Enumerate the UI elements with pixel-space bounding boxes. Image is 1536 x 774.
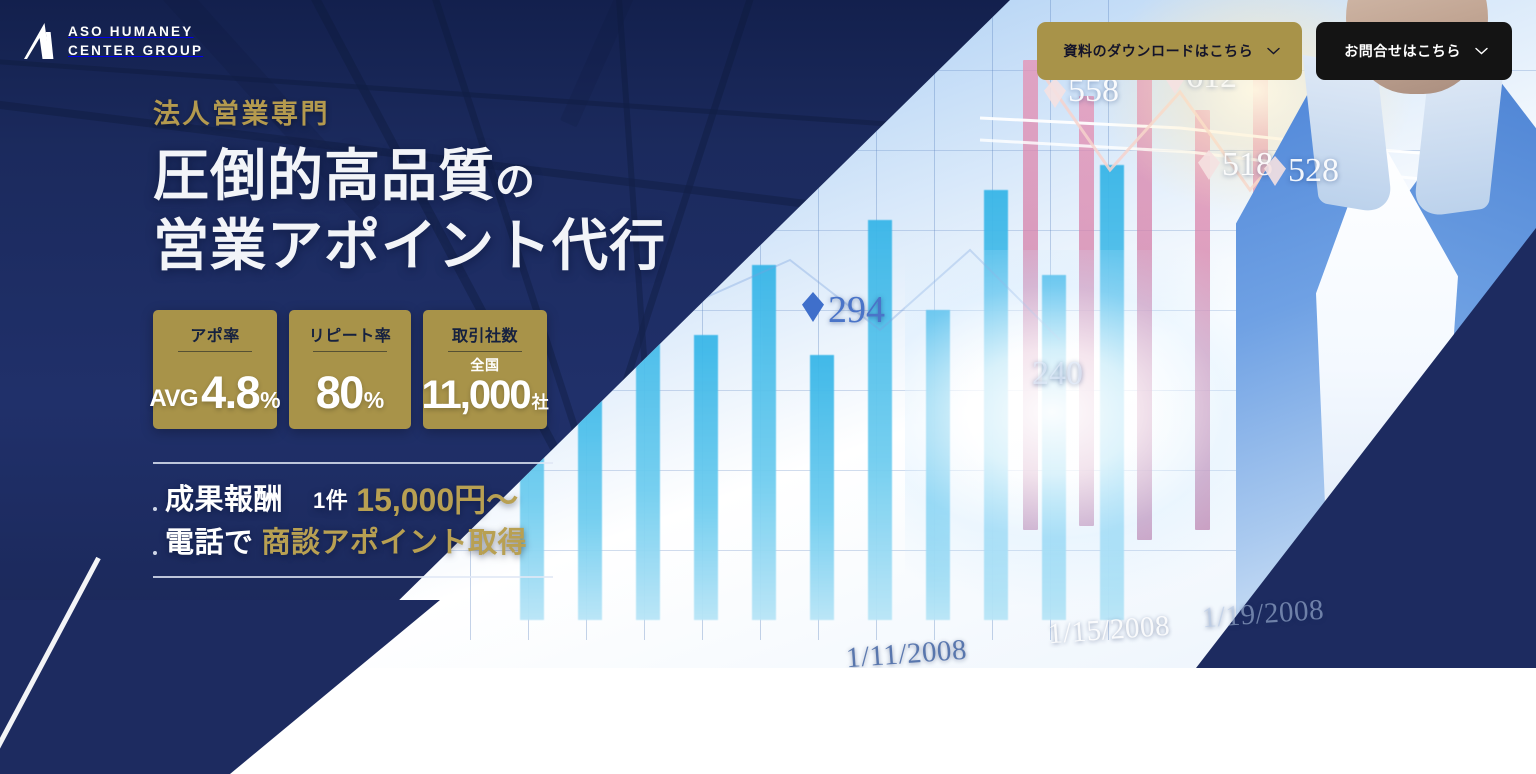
bullet-dot-icon: [153, 551, 157, 555]
stat-unit: %: [260, 389, 280, 412]
stat-label: 取引社数: [452, 322, 518, 346]
bullet-white-b: 1件: [313, 485, 348, 516]
stat-value: AVG 4.8 %: [149, 370, 280, 415]
brand-line-2: CENTER GROUP: [68, 42, 203, 59]
hero-eyebrow: 法人営業専門: [153, 100, 666, 130]
brand-logo-text: ASO HUMANEY CENTER GROUP: [68, 23, 203, 60]
stat-card-repeat-rate: リピート率 80 %: [289, 310, 411, 429]
stat-divider: [313, 351, 387, 352]
stat-divider: [178, 351, 252, 352]
stat-value: 11,000 社: [421, 375, 548, 415]
stat-label: リピート率: [309, 322, 392, 346]
stat-value: 80 %: [316, 370, 385, 415]
bullet-white-a: 成果報酬: [165, 480, 283, 521]
stat-number: 11,000: [421, 375, 529, 415]
hero-title-line1-main: 圧倒的高品質: [153, 144, 495, 207]
chevron-down-icon: [1267, 47, 1280, 55]
bullet-gold: 商談アポイント取得: [262, 523, 528, 564]
hero-section: 558 612 518 528 294 240 1/11/2008: [0, 0, 1536, 668]
bullet-item: 電話で 商談アポイント取得: [153, 523, 553, 564]
stat-number: 4.8: [201, 370, 259, 415]
bullets-divider-bottom: [153, 576, 553, 578]
stat-card-client-count: 取引社数 全国 11,000 社: [423, 310, 547, 429]
contact-button[interactable]: お問合せはこちら: [1316, 22, 1512, 80]
site-header: ASO HUMANEY CENTER GROUP 資料のダウンロードはこちら お…: [0, 0, 1536, 104]
brand-line-1: ASO HUMANEY: [68, 23, 203, 40]
stat-unit: %: [364, 389, 384, 412]
bullet-gold: 15,000円〜: [356, 478, 518, 523]
stat-superscript: 全国: [470, 355, 499, 375]
download-materials-button[interactable]: 資料のダウンロードはこちら: [1037, 22, 1302, 80]
stat-unit: 社: [532, 394, 549, 411]
navy-wedge-bottom-left: [0, 600, 440, 774]
stat-divider: [448, 351, 522, 352]
header-actions: 資料のダウンロードはこちら お問合せはこちら: [1037, 22, 1512, 80]
hero-copy: 法人営業専門 圧倒的高品質の 営業アポイント代行: [153, 100, 666, 277]
bullet-white-a: 電話で: [165, 523, 254, 564]
stat-prefix: AVG: [149, 387, 198, 411]
bullet-dot-icon: [153, 507, 157, 511]
contact-label: お問合せはこちら: [1344, 41, 1461, 61]
stat-number: 80: [316, 370, 363, 415]
brand-logo[interactable]: ASO HUMANEY CENTER GROUP: [24, 22, 203, 60]
hero-title-line1-suffix: の: [495, 160, 536, 204]
hero-title-line2: 営業アポイント代行: [153, 214, 666, 278]
page-title: 圧倒的高品質の 営業アポイント代行: [153, 144, 666, 278]
chevron-down-icon: [1475, 47, 1488, 55]
stat-card-appointment-rate: アポ率 AVG 4.8 %: [153, 310, 277, 429]
stat-label: アポ率: [190, 322, 240, 346]
stat-cards: アポ率 AVG 4.8 % リピート率 80 % 取引社数 全国: [153, 310, 547, 429]
download-materials-label: 資料のダウンロードはこちら: [1063, 41, 1253, 61]
landing-page: 558 612 518 528 294 240 1/11/2008: [0, 0, 1536, 774]
hero-bullets: 成果報酬 1件 15,000円〜 電話で 商談アポイント取得: [153, 462, 553, 578]
aso-triangle-mark-icon: [24, 22, 57, 60]
bullet-item: 成果報酬 1件 15,000円〜: [153, 478, 553, 523]
